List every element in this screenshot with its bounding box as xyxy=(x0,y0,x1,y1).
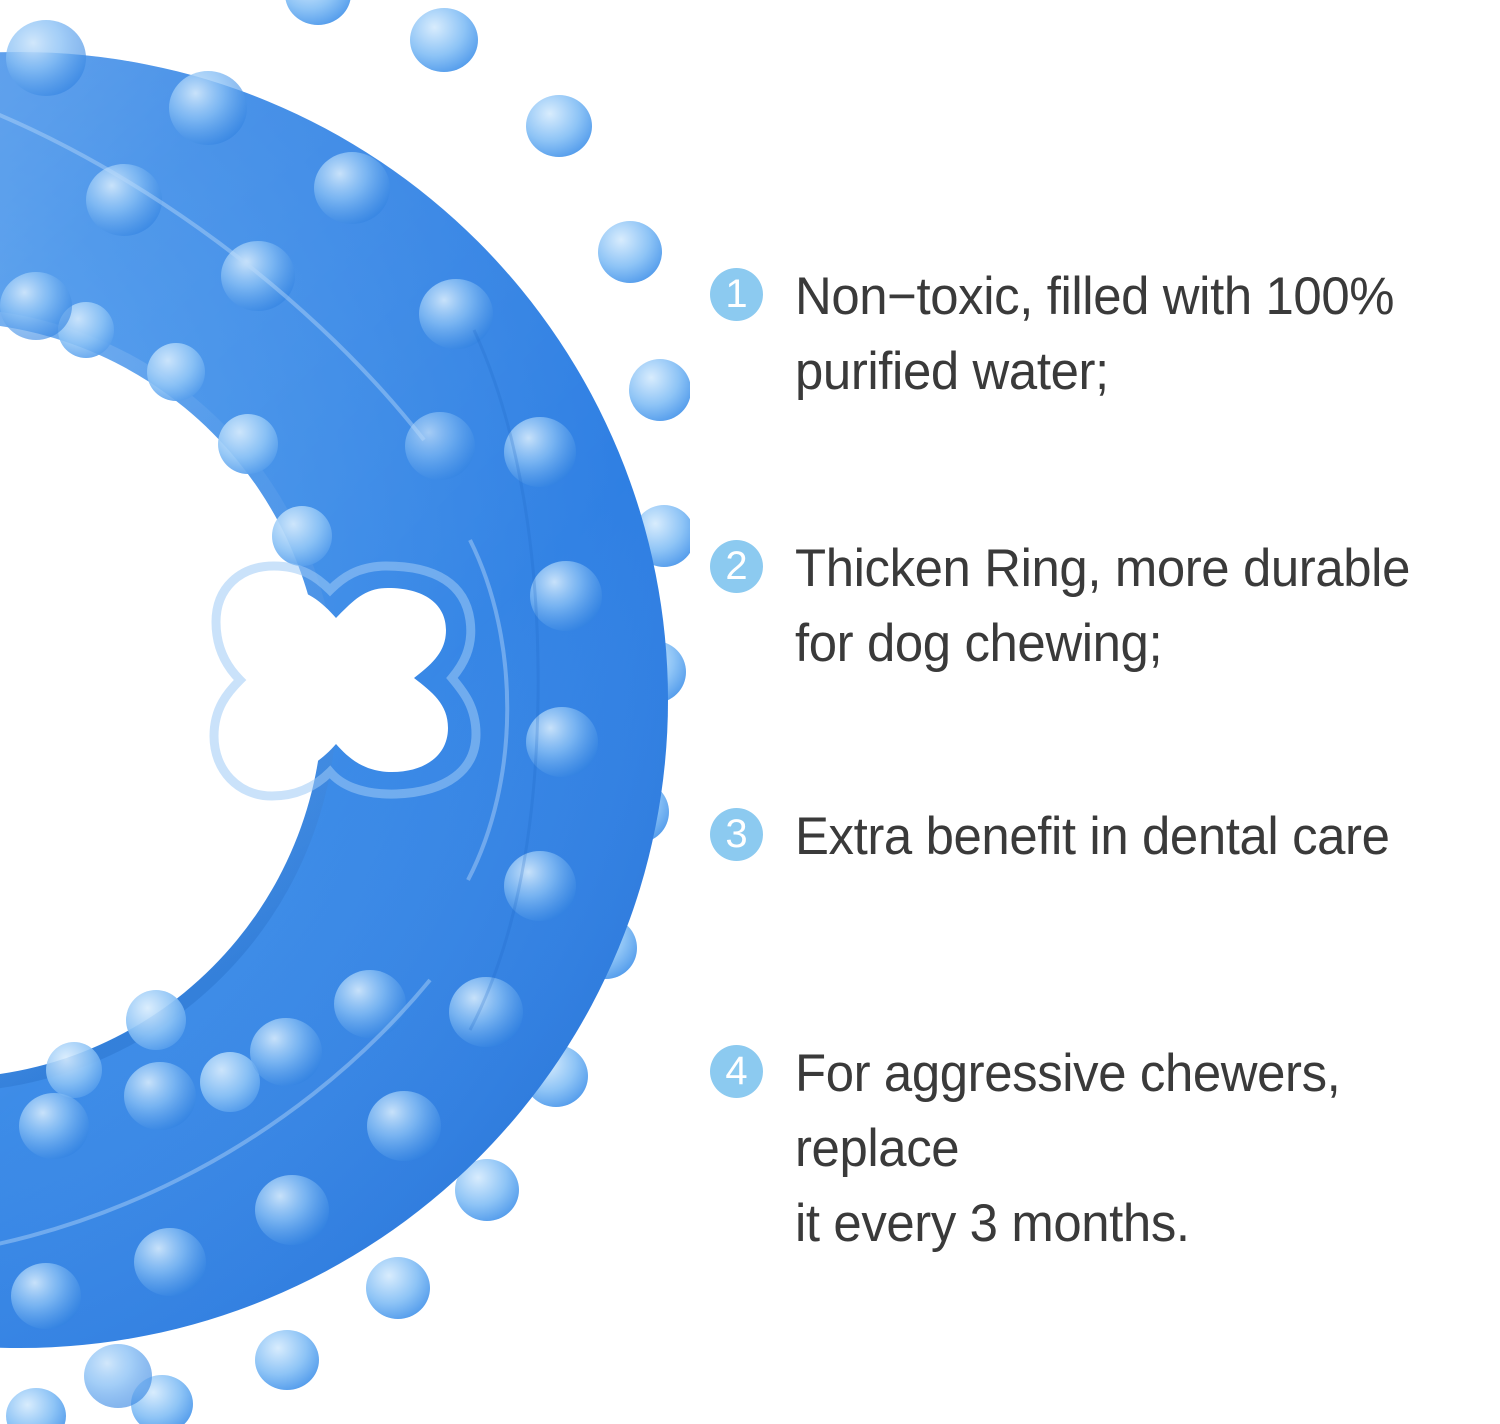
feature-number-badge-1: 1 xyxy=(710,268,763,321)
feature-text-3: Extra benefit in dental care xyxy=(795,799,1472,874)
feature-text-1: Non−toxic, filled with 100% purified wat… xyxy=(795,259,1472,409)
feature-number-badge-3: 3 xyxy=(710,808,763,861)
infographic-page: 1 Non−toxic, filled with 100% purified w… xyxy=(0,0,1500,1424)
feature-number-badge-2: 2 xyxy=(710,540,763,593)
feature-number-badge-4: 4 xyxy=(710,1045,763,1098)
feature-text-2: Thicken Ring, more durable for dog chewi… xyxy=(795,531,1472,681)
feature-text-4: For aggressive chewers, replace it every… xyxy=(795,1036,1472,1261)
x-shaped-hole xyxy=(234,588,448,774)
product-image xyxy=(0,0,690,1424)
feature-item-1: 1 Non−toxic, filled with 100% purified w… xyxy=(690,259,1500,409)
feature-item-3: 3 Extra benefit in dental care xyxy=(690,799,1500,874)
dog-chew-ring-illustration xyxy=(0,0,690,1424)
feature-item-2: 2 Thicken Ring, more durable for dog che… xyxy=(690,531,1500,681)
feature-list: 1 Non−toxic, filled with 100% purified w… xyxy=(690,0,1500,1424)
feature-item-4: 4 For aggressive chewers, replace it eve… xyxy=(690,1036,1500,1261)
